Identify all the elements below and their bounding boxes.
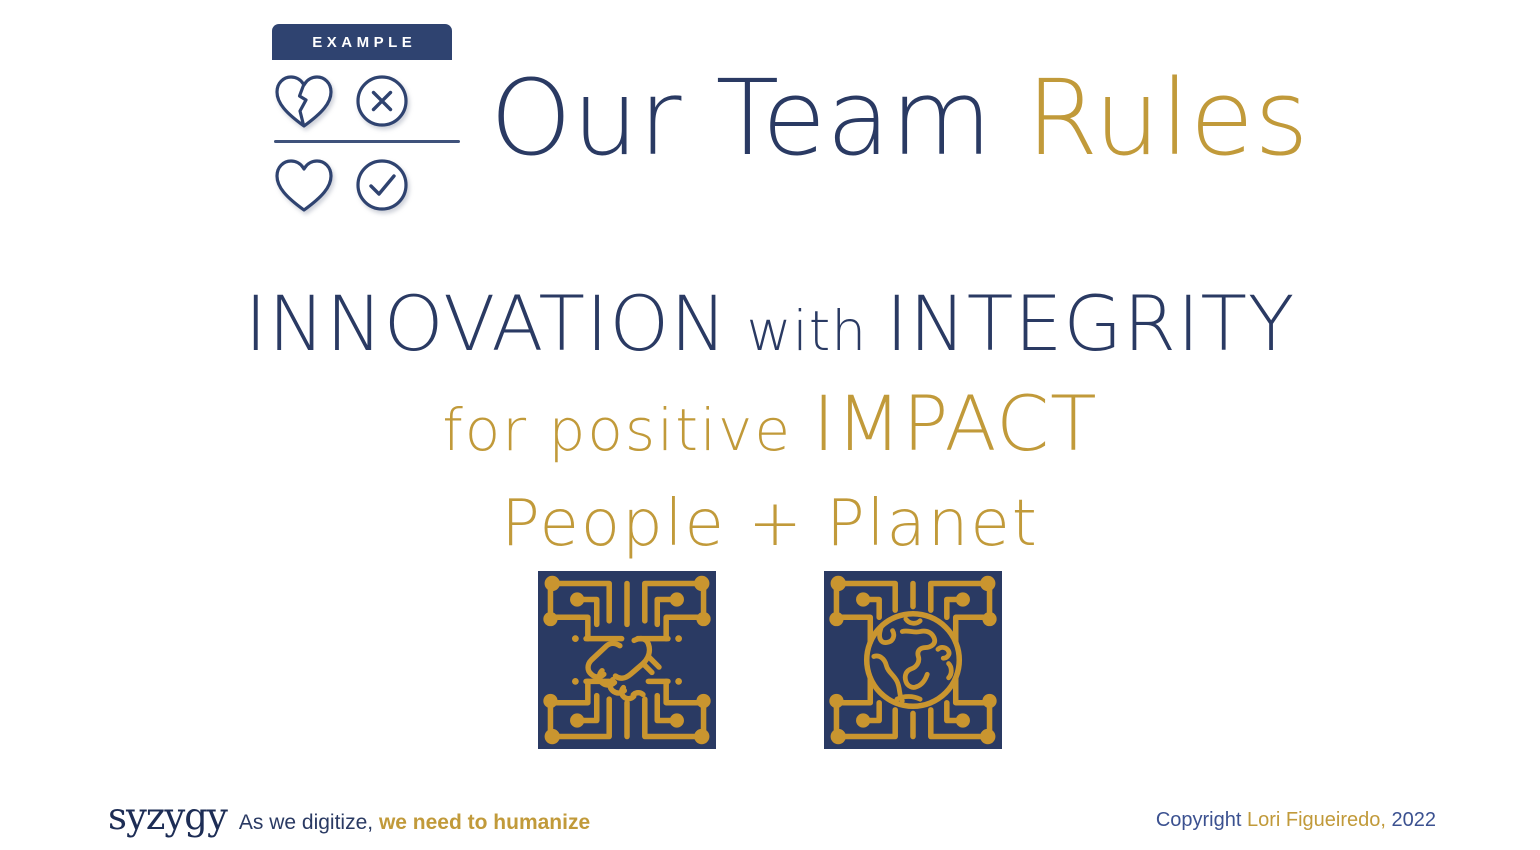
footer-tagline-plain: As we digitize, [239,811,379,834]
broken-heart-icon [272,71,336,131]
circle-check-icon [354,157,410,213]
statement-line-innovation: INNOVATION with INTEGRITY [0,286,1540,362]
copyright-author: Lori Figueiredo, [1247,809,1386,831]
copyright-prefix: Copyright [1156,809,1247,831]
slide-canvas: EXAMPLE [0,0,1540,850]
footer-tagline-bold: we need to humanize [379,811,590,834]
team-rules-statement: INNOVATION with INTEGRITY for positive I… [0,286,1540,556]
rules-divider [274,140,460,143]
statement-connector-with: with [728,299,886,363]
slide-footer: syzygy As we digitize, we need to humani… [0,780,1540,850]
rules-icon-row-dont [272,68,462,134]
statement-line-people-planet: People + Planet [0,492,1540,556]
statement-word-integrity: INTEGRITY [886,279,1296,368]
footer-brand-group: syzygy As we digitize, we need to humani… [108,795,590,838]
statement-prefix-for-positive: for positive [442,396,812,464]
globe-circuit-icon [824,571,1002,749]
statement-word-innovation: INNOVATION [245,279,728,368]
example-badge: EXAMPLE [272,24,452,60]
statement-text-people-planet: People + Planet [501,487,1039,561]
slide-header: EXAMPLE [0,0,1540,240]
statement-word-impact: IMPACT [813,379,1098,468]
page-title-primary: Our Team [490,57,1026,179]
example-marker-block: EXAMPLE [272,24,462,218]
statement-line-impact: for positive IMPACT [0,386,1540,462]
copyright-notice: Copyright Lori Figueiredo, 2022 [1156,809,1436,832]
value-icon-tiles [0,571,1540,749]
syzygy-logo: syzygy [108,795,227,838]
example-badge-label: EXAMPLE [308,34,417,51]
circle-x-icon [354,73,410,129]
handshake-circuit-icon [538,571,716,749]
rules-icon-row-do [272,152,462,218]
rules-icon-grid [272,68,462,218]
copyright-year: 2022 [1386,809,1436,831]
page-title-accent: Rules [1026,57,1309,179]
page-title: Our Team Rules [490,62,1309,174]
footer-tagline: As we digitize, we need to humanize [239,811,590,835]
heart-icon [272,155,336,215]
